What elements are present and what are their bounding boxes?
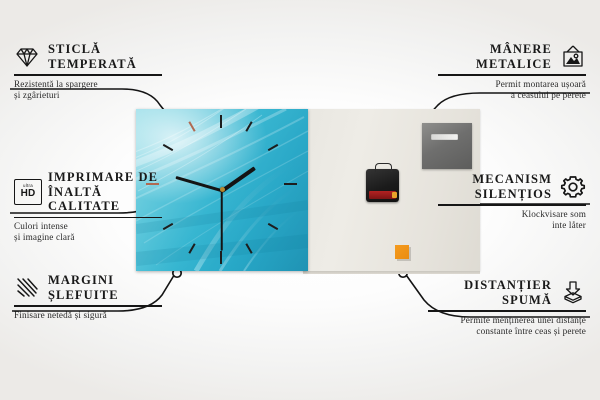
feature-subtitle-line2: constante între ceas și perete	[476, 326, 586, 336]
polished-edge-icon	[14, 275, 40, 301]
feature-rule	[14, 74, 162, 76]
feature-title-line1: MECANISM	[472, 172, 552, 186]
feature-subtitle-line2: inte låter	[552, 220, 586, 230]
clock-tick	[284, 183, 297, 185]
feature-title-line1: DISTANȚIER	[464, 278, 552, 292]
hands-center-pin	[220, 187, 225, 192]
ultra-hd-hd-label: HD	[21, 189, 36, 199]
clock-tick	[220, 115, 222, 128]
feature-title-line1: MÂNERE	[490, 42, 552, 56]
feature-rule	[14, 217, 162, 219]
second-hand	[221, 191, 223, 251]
feature-subtitle-line1: Rezistentă la spargere	[14, 79, 98, 89]
down-arrow-stack-icon	[560, 280, 586, 306]
feature-subtitle-line1: Permite menținerea unei distanțe	[461, 315, 586, 325]
feature-subtitle-line1: Culori intense	[14, 221, 68, 231]
feature-title-line2: SILENȚIOS	[475, 187, 552, 201]
feature-rule	[438, 74, 586, 76]
product-image	[136, 109, 480, 271]
feature-polished-edges: MARGINI ȘLEFUITE Finisare netedă și sigu…	[14, 273, 162, 321]
feature-subtitle-line2: a ceasului pe perete	[511, 90, 586, 100]
feature-rule	[428, 310, 586, 312]
feature-title-line1: STICLĂ	[48, 42, 101, 56]
feature-subtitle-line2: și imagine clară	[14, 232, 75, 242]
feature-metal-handles: MÂNERE METALICE Permit montarea ușoară a…	[438, 42, 586, 101]
feature-title-line1: MARGINI	[48, 273, 114, 287]
feature-title-line1: IMPRIMARE DE	[48, 170, 158, 184]
feature-foam-spacer: DISTANȚIER SPUMĂ Permite menținerea unei…	[428, 278, 586, 337]
movement-hook	[375, 163, 392, 172]
diamond-icon	[14, 44, 40, 70]
feature-title-line2: TEMPERATĂ	[48, 57, 137, 71]
gear-icon	[560, 174, 586, 200]
quartz-movement	[366, 169, 399, 202]
infographic-canvas: STICLĂ TEMPERATĂ Rezistentă la spargere …	[0, 0, 600, 400]
feature-rule	[438, 204, 586, 206]
battery	[369, 191, 396, 199]
hanging-frame-icon	[560, 44, 586, 70]
clock-tick	[220, 251, 222, 264]
feature-hd-print: ultra HD IMPRIMARE DE ÎNALTĂ CALITATE Cu…	[14, 170, 162, 244]
feature-subtitle-line1: Klockvisare som	[522, 209, 586, 219]
feature-subtitle-line1: Finisare netedă și sigură	[14, 310, 107, 320]
feature-rule	[14, 305, 162, 307]
feature-subtitle-line1: Permit montarea ușoară	[495, 79, 586, 89]
ultra-hd-icon: ultra HD	[14, 179, 40, 205]
feature-subtitle-line2: și zgârieturi	[14, 90, 60, 100]
feature-silent-mechanism: MECANISM SILENȚIOS Klockvisare som inte …	[438, 172, 586, 231]
feature-title-line2: ȘLEFUITE	[48, 288, 119, 302]
feature-tempered-glass: STICLĂ TEMPERATĂ Rezistentă la spargere …	[14, 42, 162, 101]
hanger-slot	[431, 134, 458, 140]
metal-hanger-plate	[422, 123, 472, 169]
feature-title-line2: SPUMĂ	[502, 293, 552, 307]
foam-spacer-pad	[395, 245, 409, 259]
feature-title-line2: ÎNALTĂ CALITATE	[48, 185, 120, 214]
feature-title-line2: METALICE	[476, 57, 552, 71]
